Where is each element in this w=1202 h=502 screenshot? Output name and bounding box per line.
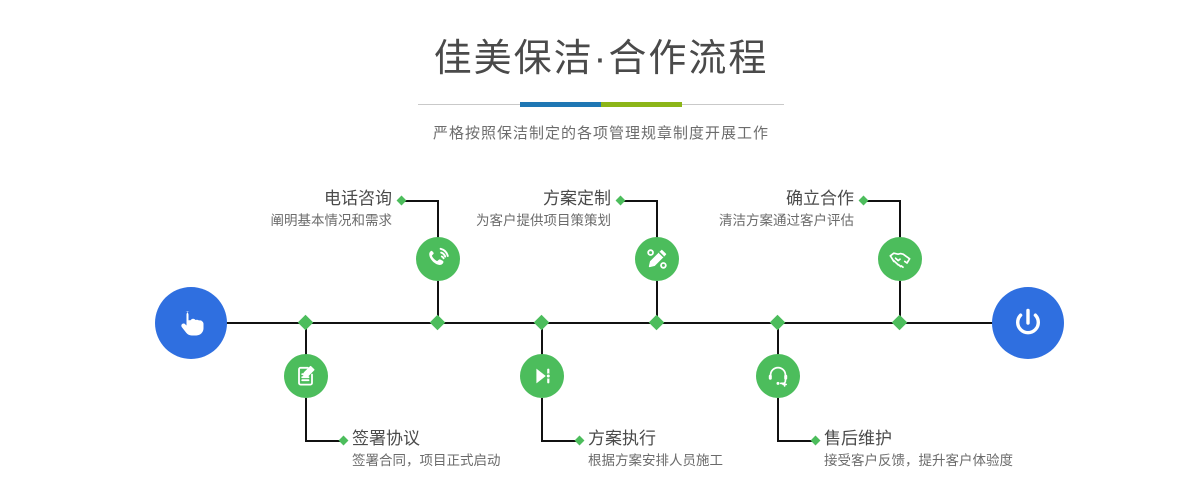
label-desc-plan-execution: 根据方案安排人员施工 — [588, 452, 818, 471]
label-desc-after-sales-maintenance: 接受客户反馈，提升客户体验度 — [824, 452, 1084, 471]
label-title-after-sales-maintenance: 售后维护 — [824, 428, 1084, 450]
label-title-sign-agreement: 签署协议 — [352, 428, 582, 450]
step-icon-phone-consultation[interactable] — [416, 237, 460, 281]
step-icon-plan-execution[interactable] — [520, 354, 564, 398]
label-sign-agreement: 签署协议 签署合同，项目正式启动 — [352, 428, 582, 471]
timeline-start-endpoint — [155, 287, 227, 359]
power-icon — [1008, 303, 1048, 343]
axis-diamond-plan-customization — [649, 315, 665, 331]
leader-stem-sign-agreement — [305, 398, 307, 441]
timeline-axis — [160, 322, 1042, 324]
label-plan-execution: 方案执行 根据方案安排人员施工 — [588, 428, 818, 471]
label-desc-plan-customization: 为客户提供项目策策划 — [400, 212, 611, 231]
label-establish-cooperation: 确立合作 清洁方案通过客户评估 — [643, 188, 854, 231]
document-edit-icon — [293, 363, 319, 389]
label-plan-customization: 方案定制 为客户提供项目策策划 — [400, 188, 611, 231]
axis-diamond-plan-execution — [534, 315, 550, 331]
leader-stem-establish-cooperation — [899, 201, 901, 238]
pointing-hand-icon — [172, 304, 210, 342]
axis-diamond-establish-cooperation — [892, 315, 908, 331]
label-title-plan-customization: 方案定制 — [400, 188, 611, 210]
phone-call-icon — [425, 246, 451, 272]
leader-line-sign-agreement — [305, 440, 342, 442]
bullet-sign-agreement — [339, 436, 349, 446]
axis-diamond-after-sales-maintenance — [770, 315, 786, 331]
step-icon-plan-customization[interactable] — [635, 237, 679, 281]
label-after-sales-maintenance: 售后维护 接受客户反馈，提升客户体验度 — [824, 428, 1084, 471]
step-icon-after-sales-maintenance[interactable] — [756, 354, 800, 398]
bullet-plan-customization — [616, 196, 626, 206]
axis-diamond-phone-consultation — [430, 315, 446, 331]
label-phone-consultation: 电话咨询 阐明基本情况和需求 — [180, 188, 392, 231]
label-title-plan-execution: 方案执行 — [588, 428, 818, 450]
play-execute-icon — [529, 363, 555, 389]
pencil-ruler-icon — [644, 246, 670, 272]
process-timeline: 电话咨询 阐明基本情况和需求 签署协议 签署合同，项目正式启动 — [0, 0, 1202, 502]
leader-line-establish-cooperation — [865, 200, 901, 202]
bullet-establish-cooperation — [859, 196, 869, 206]
step-icon-establish-cooperation[interactable] — [878, 237, 922, 281]
label-desc-establish-cooperation: 清洁方案通过客户评估 — [643, 212, 854, 231]
axis-diamond-sign-agreement — [298, 315, 314, 331]
customer-service-icon — [765, 363, 791, 389]
label-desc-sign-agreement: 签署合同，项目正式启动 — [352, 452, 582, 471]
timeline-end-endpoint — [992, 287, 1064, 359]
label-title-phone-consultation: 电话咨询 — [180, 188, 392, 210]
step-icon-sign-agreement[interactable] — [284, 354, 328, 398]
label-title-establish-cooperation: 确立合作 — [643, 188, 854, 210]
handshake-icon — [887, 246, 913, 272]
label-desc-phone-consultation: 阐明基本情况和需求 — [180, 212, 392, 231]
